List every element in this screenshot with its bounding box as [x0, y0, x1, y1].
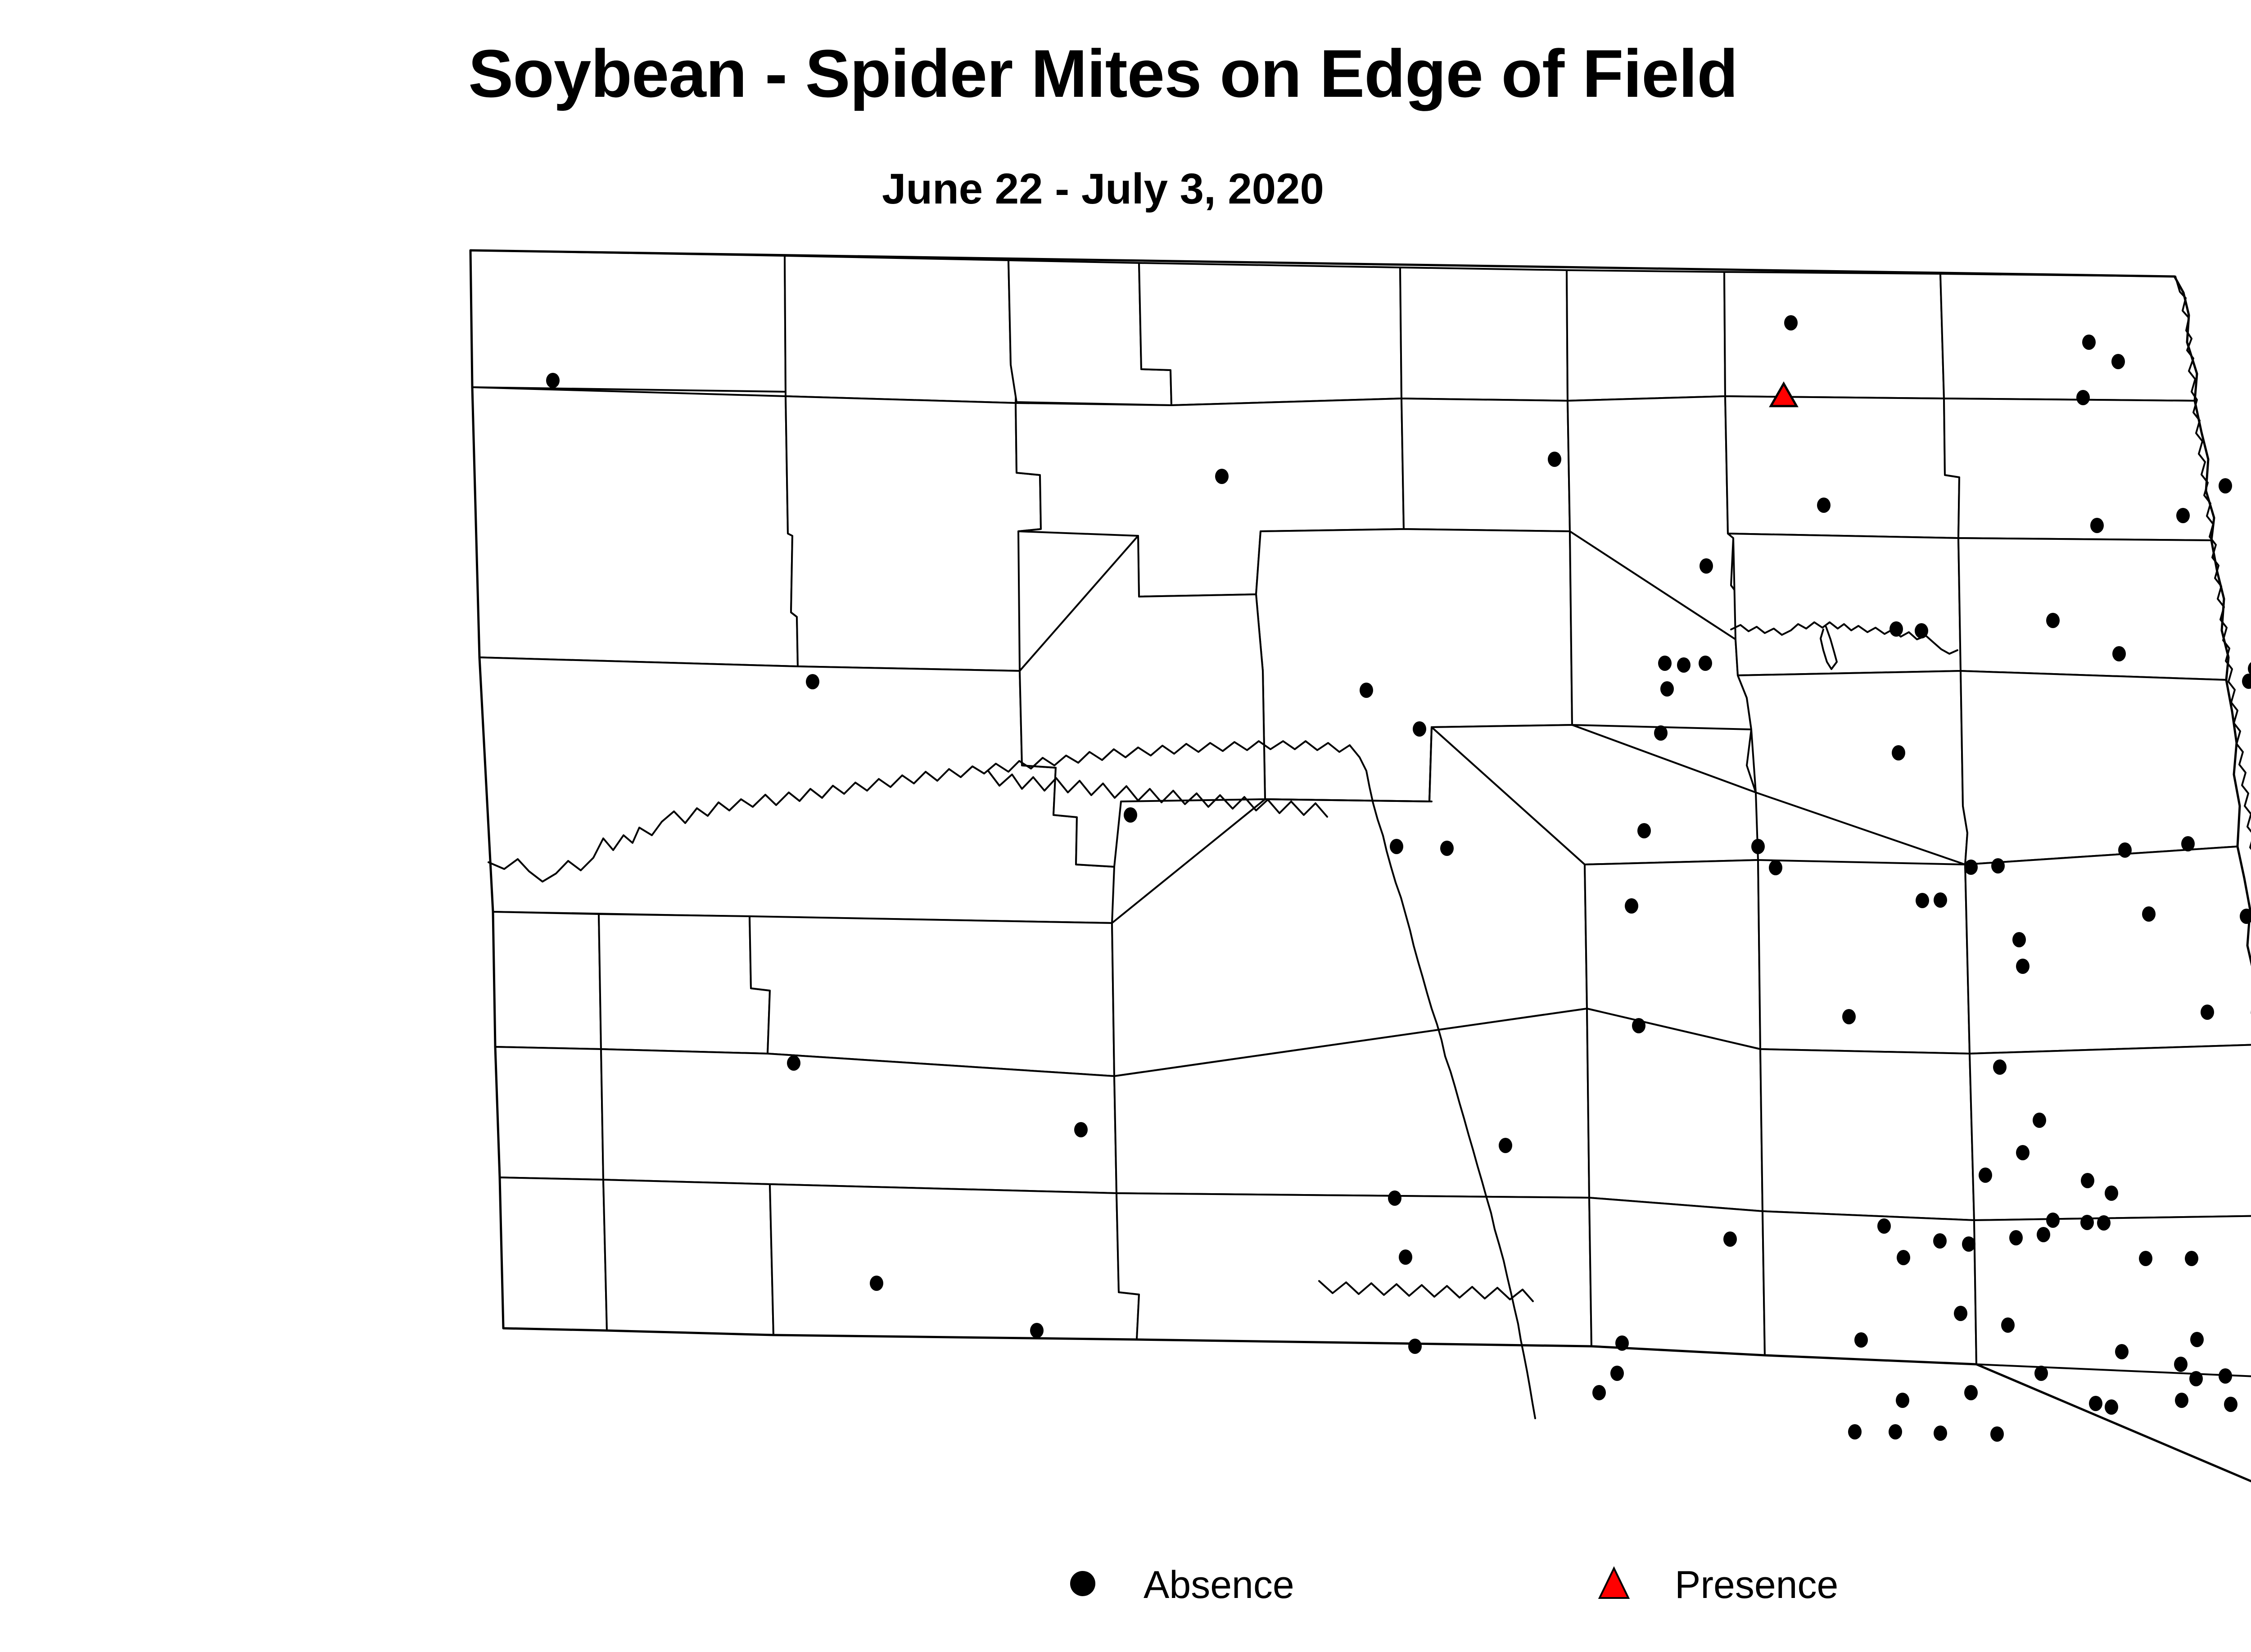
absence-marker: [1751, 839, 1765, 854]
legend-label-absence: Absence: [1144, 1566, 1294, 1604]
absence-marker: [1962, 1236, 1975, 1252]
absence-marker: [2111, 354, 2125, 369]
absence-marker: [1548, 452, 1561, 467]
absence-marker: [2076, 390, 2090, 405]
absence-marker: [1896, 1393, 1909, 1408]
absence-marker: [2142, 906, 2156, 922]
map-svg: [0, 0, 2251, 1652]
absence-marker: [1848, 1424, 1862, 1439]
absence-marker: [1030, 1323, 1044, 1338]
absence-marker: [1892, 745, 1905, 760]
absence-marker: [2105, 1399, 2118, 1415]
absence-marker: [2097, 1215, 2111, 1231]
absence-marker: [1660, 681, 1674, 697]
absence-marker: [2181, 836, 2195, 851]
absence-marker: [1964, 860, 1978, 875]
absence-marker: [2081, 1173, 2094, 1188]
absence-marker: [870, 1276, 883, 1291]
legend-item-absence: Absence: [1053, 1556, 1294, 1614]
absence-marker: [2090, 518, 2104, 533]
absence-marker: [2105, 1186, 2118, 1201]
map-legend: Absence Presence: [1053, 1556, 2044, 1614]
north-dakota-county-map: [0, 0, 2251, 1652]
absence-marker: [2046, 613, 2060, 628]
absence-marker: [2016, 959, 2030, 974]
absence-marker: [1413, 721, 1426, 737]
absence-marker: [2046, 1213, 2060, 1228]
absence-marker: [2118, 842, 2132, 858]
absence-marker: [1399, 1249, 1412, 1265]
absence-marker: [1124, 807, 1137, 823]
absence-marker: [1784, 315, 1798, 330]
absence-marker: [1933, 1233, 1947, 1249]
absence-marker: [1388, 1190, 1401, 1206]
absence-marker: [1699, 656, 1712, 671]
absence-marker: [1408, 1339, 1422, 1354]
absence-marker: [2175, 1393, 2188, 1408]
absence-marker: [1934, 1426, 1947, 1441]
absence-marker: [546, 373, 560, 388]
absence-marker: [2037, 1227, 2050, 1242]
absence-marker: [1889, 621, 1903, 637]
absence-marker: [2219, 478, 2232, 493]
absence-marker: [1934, 892, 1947, 908]
absence-marker: [2189, 1371, 2203, 1386]
absence-marker: [1723, 1231, 1737, 1247]
absence-marker: [1991, 858, 2005, 874]
absence-marker: [1499, 1138, 1512, 1153]
absence-marker: [1632, 1018, 1645, 1033]
absence-marker: [2001, 1317, 2015, 1333]
absence-marker: [1889, 1424, 1902, 1439]
absence-dot-icon: [1053, 1556, 1112, 1614]
absence-marker: [1658, 656, 1672, 671]
absence-marker: [2034, 1366, 2048, 1381]
absence-marker: [1625, 898, 1638, 914]
absence-marker: [1990, 1426, 2004, 1442]
absence-marker: [787, 1055, 800, 1071]
absence-marker: [2219, 1368, 2232, 1384]
absence-marker: [1360, 683, 1373, 698]
absence-marker: [1964, 1385, 1978, 1400]
absence-marker: [1897, 1250, 1910, 1265]
absence-marker: [1916, 893, 1929, 908]
absence-marker: [2224, 1397, 2237, 1412]
absence-marker: [2080, 1215, 2094, 1230]
absence-marker: [1615, 1335, 1629, 1351]
absence-marker: [2139, 1251, 2152, 1266]
absence-marker: [1215, 469, 1229, 484]
absence-marker: [1654, 725, 1668, 741]
absence-marker: [1915, 623, 1928, 638]
absence-marker: [2033, 1113, 2046, 1128]
absence-marker: [1842, 1009, 1856, 1024]
absence-marker: [2190, 1332, 2204, 1347]
absence-marker: [2174, 1357, 2188, 1372]
absence-marker: [1592, 1385, 1606, 1400]
absence-marker: [2082, 335, 2096, 350]
absence-marker: [2115, 1344, 2129, 1359]
absence-marker: [1390, 839, 1403, 854]
presence-triangle-icon: [1585, 1556, 1643, 1614]
county-boundaries: [470, 250, 2251, 1378]
absence-marker: [1074, 1122, 1088, 1137]
absence-marker: [1993, 1059, 2007, 1075]
absence-marker: [1637, 823, 1651, 838]
legend-item-presence: Presence: [1585, 1556, 1838, 1614]
absence-marker: [2089, 1396, 2102, 1411]
absence-marker: [1979, 1168, 1992, 1183]
legend-label-presence: Presence: [1675, 1566, 1838, 1604]
absence-marker: [1954, 1306, 1967, 1321]
absence-marker: [1677, 657, 1691, 673]
absence-marker: [1854, 1332, 1868, 1348]
absence-marker: [1817, 498, 1831, 513]
absence-marker: [2242, 674, 2251, 689]
absence-marker: [2112, 646, 2126, 661]
absence-marker: [1700, 558, 1713, 574]
absence-marker: [1440, 841, 1454, 856]
absence-marker: [2176, 508, 2190, 523]
absence-marker: [2009, 1230, 2023, 1245]
map-page: Soybean - Spider Mites on Edge of Field …: [0, 0, 2251, 1652]
absence-marker: [2016, 1145, 2030, 1160]
absence-marker: [1877, 1218, 1891, 1234]
absence-marker: [2185, 1251, 2198, 1266]
absence-marker: [2201, 1005, 2214, 1020]
absence-marker: [806, 674, 819, 689]
absence-marker: [1769, 860, 1782, 875]
absence-marker: [2012, 932, 2026, 947]
absence-marker: [1610, 1366, 1624, 1381]
